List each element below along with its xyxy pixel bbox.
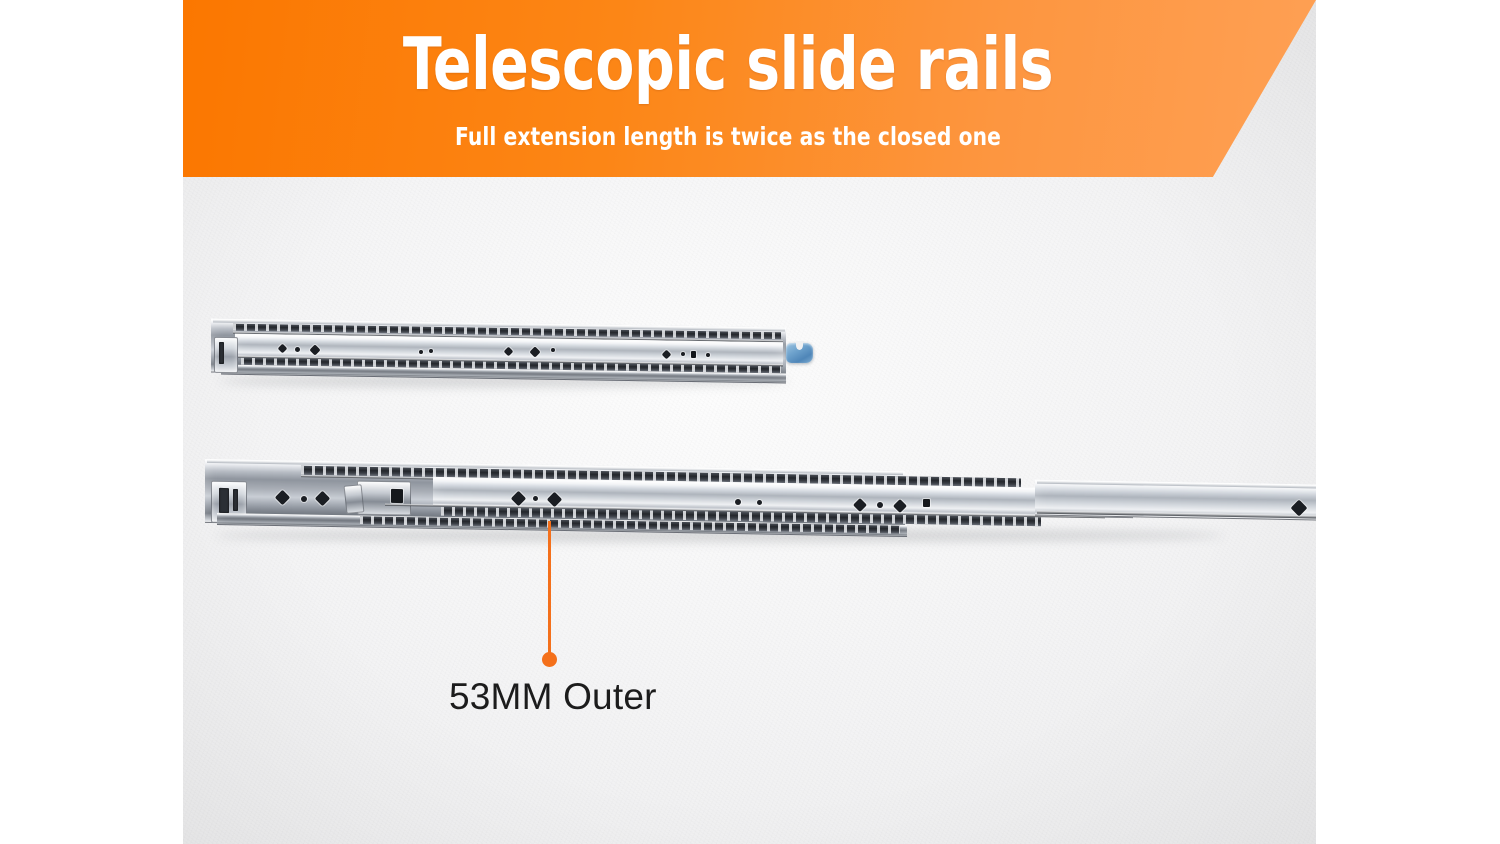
front-mounting-bracket <box>214 337 238 373</box>
closed-slide-rail <box>211 315 821 395</box>
punched-hole <box>923 499 930 507</box>
punched-hole <box>691 351 696 358</box>
header-banner: Telescopic slide rails Full extension le… <box>183 0 1316 177</box>
punched-hole <box>429 349 433 353</box>
callout-dot <box>542 652 557 667</box>
punched-hole <box>877 502 883 508</box>
bracket-slot <box>233 489 238 511</box>
punched-hole <box>301 496 307 502</box>
punched-hole <box>735 499 741 505</box>
callout-label: 53MM Outer <box>449 676 657 718</box>
punched-hole <box>706 353 710 357</box>
infographic-canvas: 53MM Outer Telescopic slide rails Full e… <box>0 0 1500 844</box>
blue-release-lever[interactable] <box>786 343 813 363</box>
bracket-slot <box>219 342 224 364</box>
punched-hole <box>681 352 685 356</box>
punched-hole <box>419 350 423 354</box>
detent-spring-tab <box>344 484 365 513</box>
punched-hole <box>757 500 762 505</box>
extended-slide-rail <box>205 455 1285 550</box>
punched-hole <box>533 496 538 501</box>
detent-window <box>391 489 403 503</box>
callout-leader-line <box>548 521 551 656</box>
bracket-slot <box>219 488 229 513</box>
page-title: Telescopic slide rails <box>248 22 1207 106</box>
punched-hole <box>551 348 555 352</box>
page-subtitle: Full extension length is twice as the cl… <box>238 120 1219 154</box>
punched-hole <box>295 347 300 352</box>
